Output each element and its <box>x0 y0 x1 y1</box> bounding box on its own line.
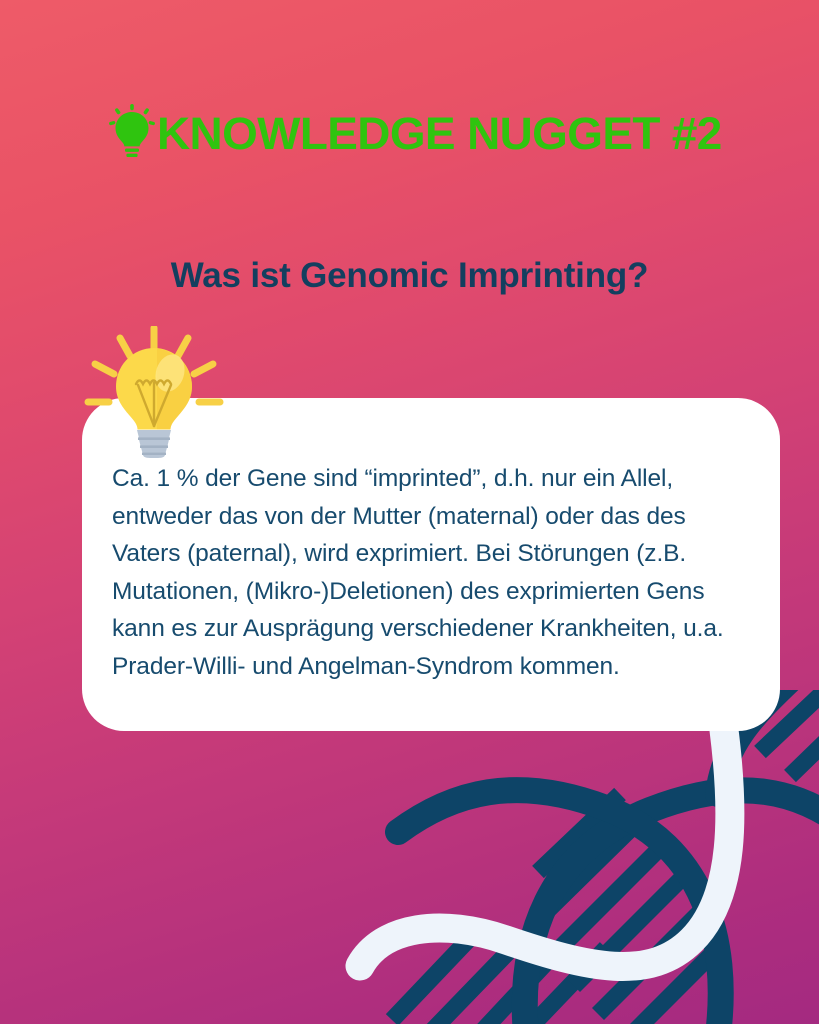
page-title: KNOWLEDGE NUGGET #2 <box>157 111 722 156</box>
lightbulb-icon <box>109 104 155 160</box>
lightbulb-illustration <box>78 326 230 458</box>
nugget-title-row: KNOWLEDGE NUGGET #2 <box>0 104 819 162</box>
page-heading: Was ist Genomic Imprinting? <box>0 255 819 297</box>
card-body-text: Ca. 1 % der Gene sind “imprinted”, d.h. … <box>112 460 752 685</box>
